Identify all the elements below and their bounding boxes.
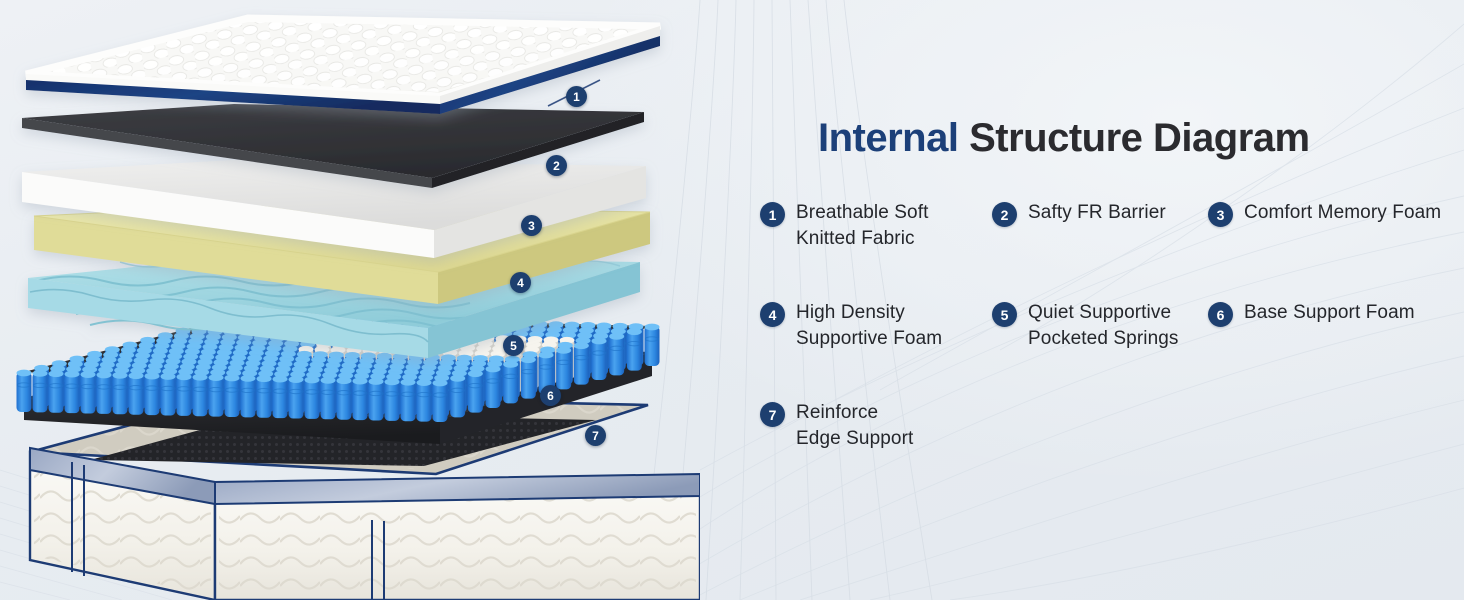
legend-label-1: Breathable Soft Knitted Fabric — [796, 200, 928, 251]
legend-badge-2: 2 — [992, 202, 1017, 227]
legend-label-2: Safty FR Barrier — [1028, 200, 1166, 226]
legend-label-5: Quiet Supportive Pocketed Springs — [1028, 300, 1179, 351]
legend-badge-3: 3 — [1208, 202, 1233, 227]
legend-label-4: High Density Supportive Foam — [796, 300, 942, 351]
callout-badge-1[interactable]: 1 — [566, 86, 587, 107]
legend-badge-4: 4 — [760, 302, 785, 327]
legend-row: 4 High Density Supportive Foam 5 Quiet S… — [760, 300, 1460, 400]
legend-badge-5: 5 — [992, 302, 1017, 327]
info-panel: Internal Structure Diagram 1 Breathable … — [760, 118, 1460, 518]
callout-badge-2[interactable]: 2 — [546, 155, 567, 176]
legend-row: 7 Reinforce Edge Support — [760, 400, 1460, 470]
legend-item-breathable-soft-knitted-fabric[interactable]: 1 Breathable Soft Knitted Fabric — [760, 200, 928, 251]
layer-breathable-soft-knitted-fabric — [26, 18, 660, 114]
legend-badge-6: 6 — [1208, 302, 1233, 327]
legend-label-7: Reinforce Edge Support — [796, 400, 913, 451]
legend-item-safty-fr-barrier[interactable]: 2 Safty FR Barrier — [992, 200, 1166, 227]
legend-badge-7: 7 — [760, 402, 785, 427]
mattress-layers-svg — [0, 0, 700, 600]
legend-item-reinforce-edge-support[interactable]: 7 Reinforce Edge Support — [760, 400, 913, 451]
legend-badge-1: 1 — [760, 202, 785, 227]
legend-item-high-density-supportive-foam[interactable]: 4 High Density Supportive Foam — [760, 300, 942, 351]
mattress-exploded-illustration: 1 2 3 4 5 6 7 — [0, 0, 700, 600]
callout-badge-3[interactable]: 3 — [521, 215, 542, 236]
page-title-rest: Structure Diagram — [969, 116, 1309, 160]
legend-item-base-support-foam[interactable]: 6 Base Support Foam — [1208, 300, 1415, 327]
page-title: Internal Structure Diagram — [818, 118, 1460, 158]
legend-label-6: Base Support Foam — [1244, 300, 1415, 326]
page-title-highlight: Internal — [818, 116, 958, 160]
legend-item-comfort-memory-foam[interactable]: 3 Comfort Memory Foam — [1208, 200, 1441, 227]
legend-item-quiet-supportive-pocketed-springs[interactable]: 5 Quiet Supportive Pocketed Springs — [992, 300, 1179, 351]
callout-badge-4[interactable]: 4 — [510, 272, 531, 293]
callout-badge-6[interactable]: 6 — [540, 385, 561, 406]
callout-badge-5[interactable]: 5 — [503, 335, 524, 356]
callout-badge-7[interactable]: 7 — [585, 425, 606, 446]
internal-structure-diagram-page: 1 2 3 4 5 6 7 Internal Structure Diagram… — [0, 0, 1464, 600]
legend-row: 1 Breathable Soft Knitted Fabric 2 Safty… — [760, 200, 1460, 300]
legend-label-3: Comfort Memory Foam — [1244, 200, 1441, 226]
legend-list: 1 Breathable Soft Knitted Fabric 2 Safty… — [760, 200, 1460, 470]
